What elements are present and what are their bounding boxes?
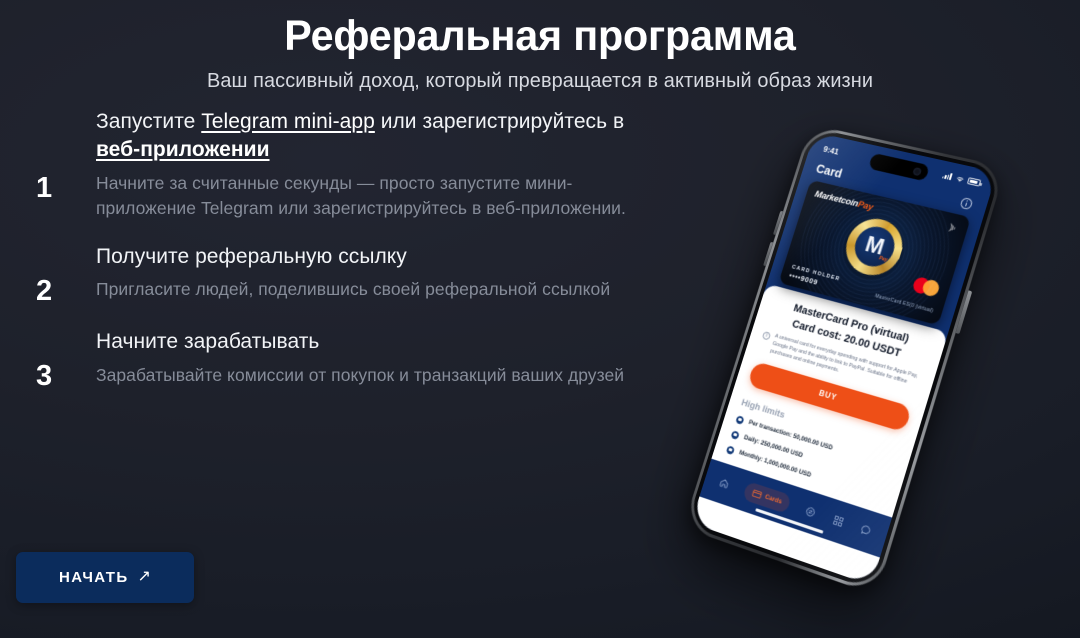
step-item-3: 3 Начните зарабатывать Зарабатывайте ком… [28,328,648,388]
step-number: 2 [36,277,52,306]
tab-qr[interactable] [831,514,845,528]
step-description: Пригласите людей, поделившись своей рефе… [96,277,648,302]
tab-cards-label: Cards [764,494,783,506]
page-subtitle: Ваш пассивный доход, который превращаетс… [16,69,1064,93]
tab-support[interactable] [859,523,873,537]
home-icon [718,477,731,491]
step-heading: Получите реферальную ссылку [96,243,648,271]
status-time: 9:41 [822,144,840,156]
step-description: Начните за считанные секунды — просто за… [96,171,648,221]
step-description: Зарабатывайте комиссии от покупок и тран… [96,363,648,388]
telegram-mini-app-link[interactable]: Telegram mini-app [201,110,375,133]
app-header-title: Card [814,162,843,181]
step-heading: Запустите Telegram mini-app или зарегист… [96,108,648,164]
steps-list: 1 Запустите Telegram mini-app или зареги… [28,108,648,388]
phone-device: 9:41 Card [683,124,1006,595]
wifi-icon [954,174,966,184]
mastercard-logo-icon [911,276,940,298]
arrow-up-right-icon: ↗ [138,569,151,585]
step-number: 1 [36,174,52,203]
step-item-2: 2 Получите реферальную ссылку Пригласите… [28,243,648,303]
check-dot-icon [735,415,744,425]
support-icon [859,523,873,537]
page-header: Реферальная программа Ваш пассивный дохо… [0,0,1080,93]
info-icon[interactable] [958,195,974,210]
start-button[interactable]: НАЧАТЬ ↗ [16,552,194,603]
referral-program-page: Реферальная программа Ваш пассивный дохо… [0,0,1080,638]
phone-mockup: 9:41 Card [690,120,1020,620]
coin-pay-label: Pay [878,255,888,263]
step-number: 3 [36,362,52,391]
qr-icon [831,514,845,528]
step-heading: Начните зарабатывать [96,328,648,356]
check-dot-icon [726,445,735,455]
tab-home[interactable] [718,477,731,491]
cellular-signal-icon [942,172,953,181]
start-button-label: НАЧАТЬ [59,569,129,586]
coin-letter: M [863,233,886,259]
web-app-link[interactable]: веб-приложении [96,138,270,161]
check-dot-icon [730,430,739,440]
battery-icon [967,177,982,186]
card-type-label: MasterCard ES(0 (virtual) [874,293,934,314]
home-indicator [755,508,823,534]
status-icons [942,171,982,187]
tab-cards[interactable]: Cards [742,481,791,514]
page-title: Реферальная программа [22,14,1059,60]
step-head-middle: или зарегистрируйтесь в [375,110,624,133]
step-item-1: 1 Запустите Telegram mini-app или зареги… [28,108,648,221]
step-head-prefix: Запустите [96,110,201,133]
